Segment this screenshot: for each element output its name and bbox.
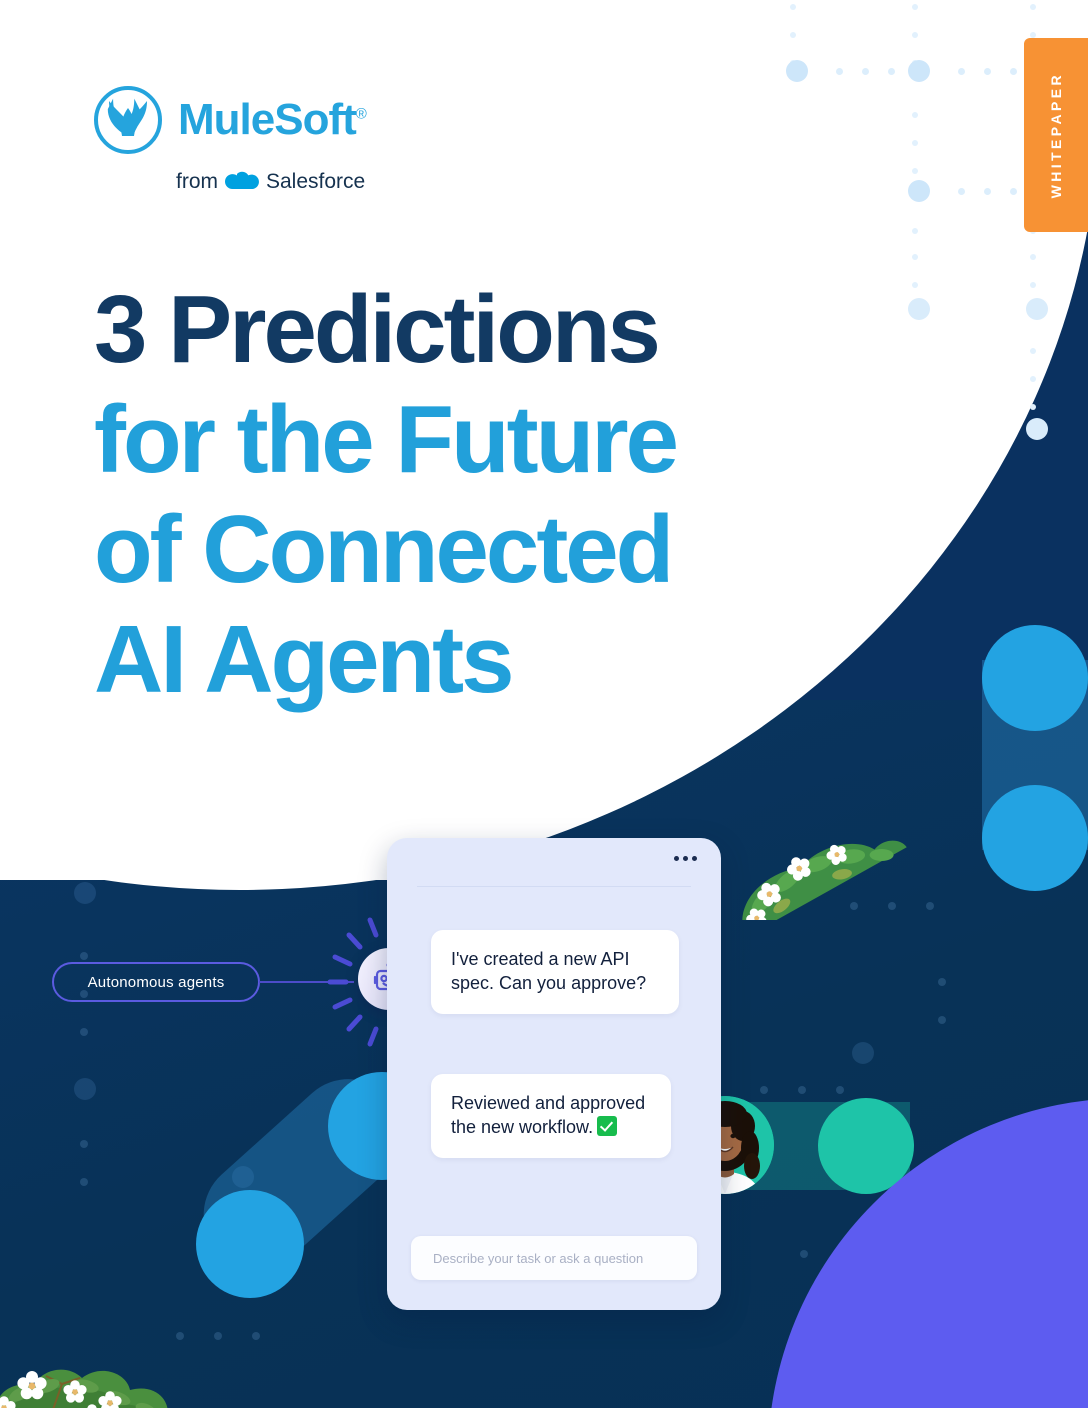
chat-message-human: Reviewed and approved the new workflow. (431, 1074, 671, 1158)
more-options-icon[interactable] (674, 856, 697, 861)
whitepaper-badge: WHITEPAPER (1024, 38, 1088, 232)
autonomous-agents-node[interactable]: Autonomous agents (52, 962, 260, 1002)
foliage-bottom-left (0, 1298, 220, 1408)
title-line-1: 3 Predictions (94, 282, 874, 378)
chat-input-placeholder: Describe your task or ask a question (433, 1251, 643, 1266)
chat-input[interactable]: Describe your task or ask a question (411, 1236, 697, 1280)
decorative-circle-right-upper (982, 625, 1088, 731)
brand-logo: MuleSoft® from Salesforce (92, 84, 372, 184)
registered-mark: ® (356, 105, 366, 122)
whitepaper-cover: WHITEPAPER MuleSoft® from Salesforce 3 P (0, 0, 1088, 1408)
title-line-2: for the Future (94, 392, 874, 488)
decorative-circle-left-lower (196, 1190, 304, 1298)
green-check-icon (597, 1116, 617, 1136)
autonomous-agents-label: Autonomous agents (88, 974, 225, 991)
foliage-curve-accent (718, 812, 918, 920)
brand-wordmark: MuleSoft® (178, 98, 366, 142)
panel-divider (417, 886, 691, 887)
title-line-3: of Connected (94, 502, 874, 598)
brand-parent: Salesforce (266, 170, 365, 194)
chat-message-agent: I've created a new API spec. Can you app… (431, 930, 679, 1014)
page-title: 3 Predictions for the Future of Connecte… (94, 282, 874, 722)
whitepaper-badge-label: WHITEPAPER (1048, 72, 1064, 198)
chat-panel: I've created a new API spec. Can you app… (387, 838, 721, 1310)
brand-parent-line: from Salesforce (176, 170, 372, 194)
salesforce-cloud-icon (225, 171, 259, 193)
title-line-4: AI Agents (94, 612, 874, 708)
mulesoft-m-icon (92, 84, 164, 156)
from-label: from (176, 170, 218, 194)
brand-name: MuleSoft (178, 95, 356, 144)
decorative-circle-right-lower (982, 785, 1088, 891)
